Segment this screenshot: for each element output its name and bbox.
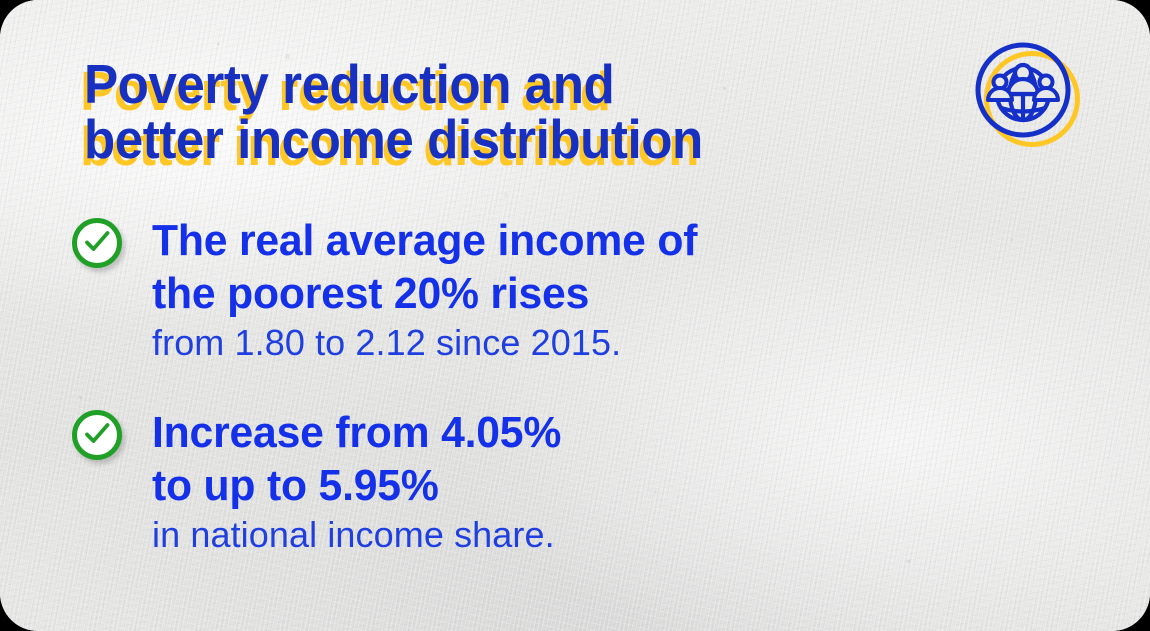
list-item-text: Increase from 4.05% to up to 5.95% in na… — [152, 406, 574, 557]
list-item-lead-line-2: to up to 5.95% — [152, 461, 439, 510]
infographic-card: Poverty reduction and better income dist… — [0, 0, 1150, 631]
title-line-2: better income distribution — [84, 108, 703, 170]
check-circle-icon — [72, 218, 122, 268]
list-item-lead-line-1: The real average income of — [152, 216, 697, 265]
card-content: Poverty reduction and better income dist… — [0, 0, 1150, 631]
check-mark-icon — [83, 420, 111, 448]
title-line-1: Poverty reduction and — [84, 53, 614, 115]
check-mark-icon — [83, 228, 111, 256]
list-item-lead: Increase from 4.05% to up to 5.95% — [152, 406, 561, 512]
globe-people-icon — [975, 42, 1079, 146]
list-item-lead-line-1: Increase from 4.05% — [152, 408, 561, 457]
check-circle-icon — [72, 410, 122, 460]
list-item-text: The real average income of the poorest 2… — [152, 214, 714, 365]
list-item-sub: in national income share. — [152, 514, 574, 556]
list-item-lead-line-2: the poorest 20% rises — [152, 269, 589, 318]
page-title: Poverty reduction and better income dist… — [84, 57, 703, 167]
list-item-lead: The real average income of the poorest 2… — [152, 214, 697, 320]
list-item-sub: from 1.80 to 2.12 since 2015. — [152, 322, 714, 364]
globe-people-icon-graphic — [975, 42, 1071, 138]
